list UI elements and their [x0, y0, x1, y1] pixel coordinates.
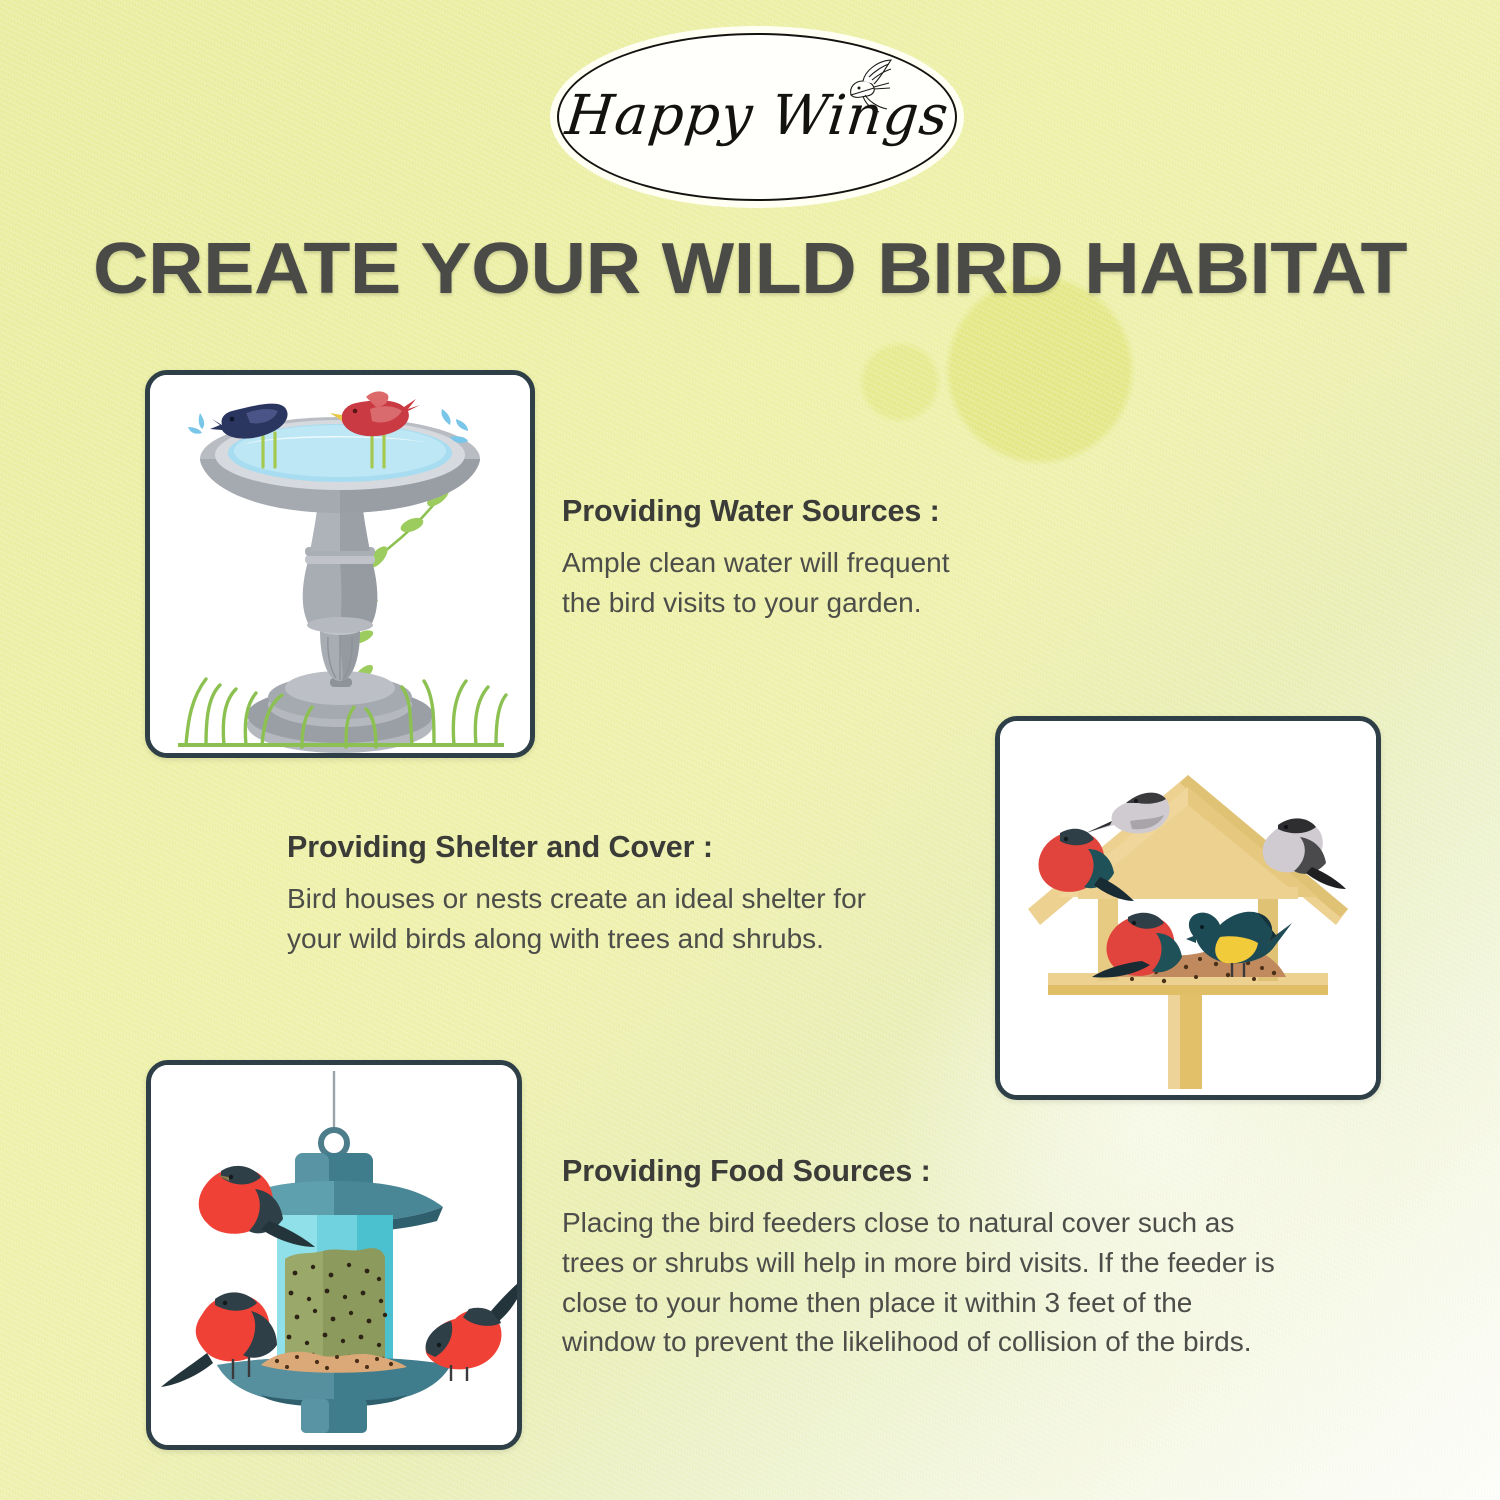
- food-section-heading: Providing Food Sources :: [562, 1154, 1275, 1189]
- bird-feeder-illustration-card: [146, 1060, 522, 1450]
- brand-logo: Happy Wings: [557, 33, 957, 201]
- hummingbird-icon: [829, 57, 907, 119]
- shelter-section-body-line-2: your wild birds along with trees and shr…: [287, 919, 866, 959]
- bird-house-illustration-card: [995, 716, 1381, 1100]
- water-section-heading: Providing Water Sources :: [562, 494, 950, 529]
- food-section-body-line-4: window to prevent the likelihood of coll…: [562, 1322, 1275, 1362]
- food-section-body-line-1: Placing the bird feeders close to natura…: [562, 1203, 1275, 1243]
- infographic-page: Happy Wings CREATE YOUR WILD BIRD HABITA…: [0, 0, 1500, 1500]
- bird-feeder-illustration: [151, 1065, 517, 1445]
- food-section-body-line-3: close to your home then place it within …: [562, 1283, 1275, 1323]
- shelter-section-body-line-1: Bird houses or nests create an ideal she…: [287, 879, 866, 919]
- bird-bath-illustration-card: [145, 370, 535, 758]
- bird-bath-illustration: [150, 375, 530, 753]
- page-title: CREATE YOUR WILD BIRD HABITAT: [0, 228, 1500, 310]
- water-section-body-line-1: Ample clean water will frequent: [562, 543, 950, 583]
- shelter-section-text: Providing Shelter and Cover : Bird house…: [287, 830, 866, 959]
- water-section-body-line-2: the bird visits to your garden.: [562, 583, 950, 623]
- bird-house-illustration: [1000, 721, 1376, 1095]
- food-section-body-line-2: trees or shrubs will help in more bird v…: [562, 1243, 1275, 1283]
- shelter-section-heading: Providing Shelter and Cover :: [287, 830, 866, 865]
- water-section-text: Providing Water Sources : Ample clean wa…: [562, 494, 950, 623]
- food-section-text: Providing Food Sources : Placing the bir…: [562, 1154, 1275, 1362]
